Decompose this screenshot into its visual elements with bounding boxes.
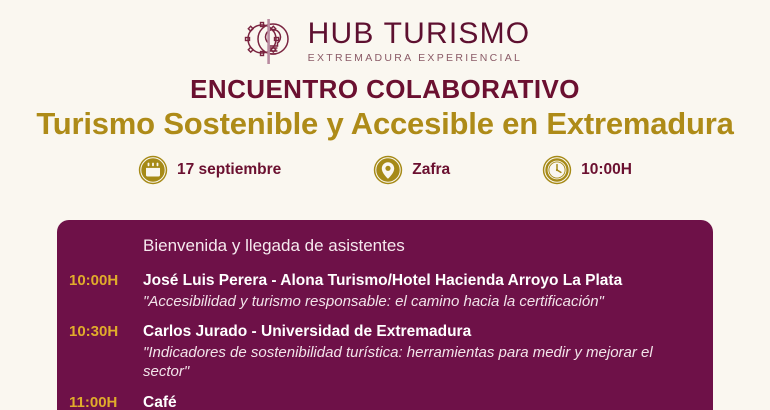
info-item-date: 17 septiembre xyxy=(138,155,281,185)
event-headline: Turismo Sostenible y Accesible en Extrem… xyxy=(0,107,770,140)
agenda-row-time: 11:00H xyxy=(69,393,143,410)
calendar-icon xyxy=(138,155,168,185)
brand-title: HUB TURISMO xyxy=(308,19,531,49)
info-place-label: Zafra xyxy=(412,161,450,179)
agenda-row: 10:00H José Luis Perera - Alona Turismo/… xyxy=(57,271,713,311)
agenda-row-speaker: José Luis Perera - Alona Turismo/Hotel H… xyxy=(143,272,622,289)
event-kicker: ENCUENTRO COLABORATIVO xyxy=(0,76,770,103)
agenda-row-topic: "Accesibilidad y turismo responsable: el… xyxy=(143,292,699,312)
agenda-row: 10:30H Carlos Jurado - Universidad de Ex… xyxy=(57,322,713,381)
agenda-panel: Bienvenida y llegada de asistentes 10:00… xyxy=(57,220,713,410)
brand-logo: HUB TURISMO EXTREMADURA EXPERIENCIAL xyxy=(0,0,770,62)
clock-icon xyxy=(542,155,572,185)
agenda-row-time: 10:00H xyxy=(69,271,143,291)
brand-text-block: HUB TURISMO EXTREMADURA EXPERIENCIAL xyxy=(308,19,531,64)
agenda-row-body: José Luis Perera - Alona Turismo/Hotel H… xyxy=(143,271,713,311)
agenda-row-topic: "Indicadores de sostenibilidad turística… xyxy=(143,343,699,382)
info-item-time: 10:00H xyxy=(542,155,632,185)
agenda-row: 11:00H Café xyxy=(57,393,713,410)
gear-lightbulb-icon xyxy=(240,15,298,67)
agenda-row-speaker: Carlos Jurado - Universidad de Extremadu… xyxy=(143,323,471,340)
location-pin-icon xyxy=(373,155,403,185)
info-date-label: 17 septiembre xyxy=(177,161,281,179)
event-info-bar: 17 septiembre Zafra xyxy=(0,155,770,185)
agenda-row-body: Café xyxy=(143,393,713,410)
agenda-row-speaker: Café xyxy=(143,394,177,410)
info-item-place: Zafra xyxy=(373,155,450,185)
info-time-label: 10:00H xyxy=(581,161,632,179)
poster-canvas: HUB TURISMO EXTREMADURA EXPERIENCIAL ENC… xyxy=(0,0,770,410)
agenda-welcome: Bienvenida y llegada de asistentes xyxy=(143,236,713,256)
brand-subtitle: EXTREMADURA EXPERIENCIAL xyxy=(308,53,531,64)
agenda-row-body: Carlos Jurado - Universidad de Extremadu… xyxy=(143,322,713,381)
agenda-row-time: 10:30H xyxy=(69,322,143,342)
